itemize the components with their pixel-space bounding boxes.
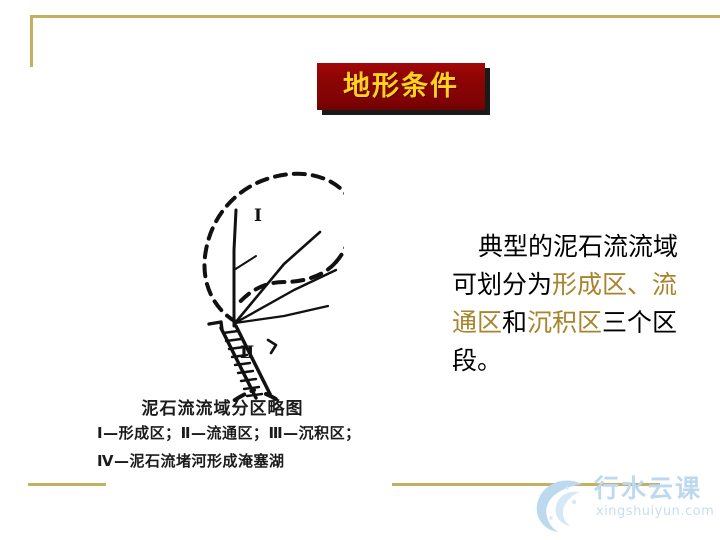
- stream-branch-d: [234, 256, 256, 270]
- wave-icon: [530, 472, 592, 534]
- stream-branch-a: [235, 232, 320, 323]
- diagram-legend-line-2: Ⅳ—泥石流堵河形成淹塞湖: [97, 448, 430, 474]
- diagram-caption-block: 泥石流流域分区略图 Ⅰ—形成区；Ⅱ—流通区；Ⅲ—沉积区； Ⅳ—泥石流堵河形成淹塞…: [100, 398, 430, 474]
- diagram-svg: Ⅰ Ⅱ Ⅱ Ⅲ Ⅳ: [88, 140, 344, 402]
- watershed-boundary-upper-lower: [238, 262, 336, 304]
- diagram-legend-line-1: Ⅰ—形成区；Ⅱ—流通区；Ⅲ—沉积区；: [97, 420, 430, 446]
- watermark-url: xingshuiyun.com: [596, 504, 714, 519]
- frame-rule-left: [30, 15, 33, 67]
- body-segment-zone3: 沉积区: [527, 308, 602, 337]
- zone2-bracket-right: [268, 340, 276, 353]
- body-paragraph: 典型的泥石流流域可划分为形成区、流通区和沉积区三个区段。: [452, 228, 702, 380]
- watermark: 行水云课 xingshuiyun.com: [530, 470, 720, 536]
- frame-rule-top: [30, 15, 720, 18]
- slide-canvas: 地形条件: [0, 0, 720, 540]
- watershed-boundary-upper-right: [336, 200, 344, 262]
- page-title: 地形条件: [343, 73, 459, 100]
- title-plaque-plate: 地形条件: [317, 63, 485, 110]
- watermark-name: 行水云课: [594, 474, 702, 504]
- body-segment-comma: 、: [627, 270, 652, 299]
- body-segment-conjunction: 和: [502, 308, 527, 337]
- diagram-caption-title: 泥石流流域分区略图: [100, 398, 345, 420]
- title-plaque: 地形条件: [317, 63, 485, 110]
- frame-rule-bottom-left: [28, 483, 106, 486]
- debris-flow-basin-diagram: Ⅰ Ⅱ Ⅱ Ⅲ Ⅳ: [88, 140, 344, 402]
- body-segment-zone1: 形成区: [552, 270, 627, 299]
- zone-label-1: Ⅰ: [254, 206, 262, 226]
